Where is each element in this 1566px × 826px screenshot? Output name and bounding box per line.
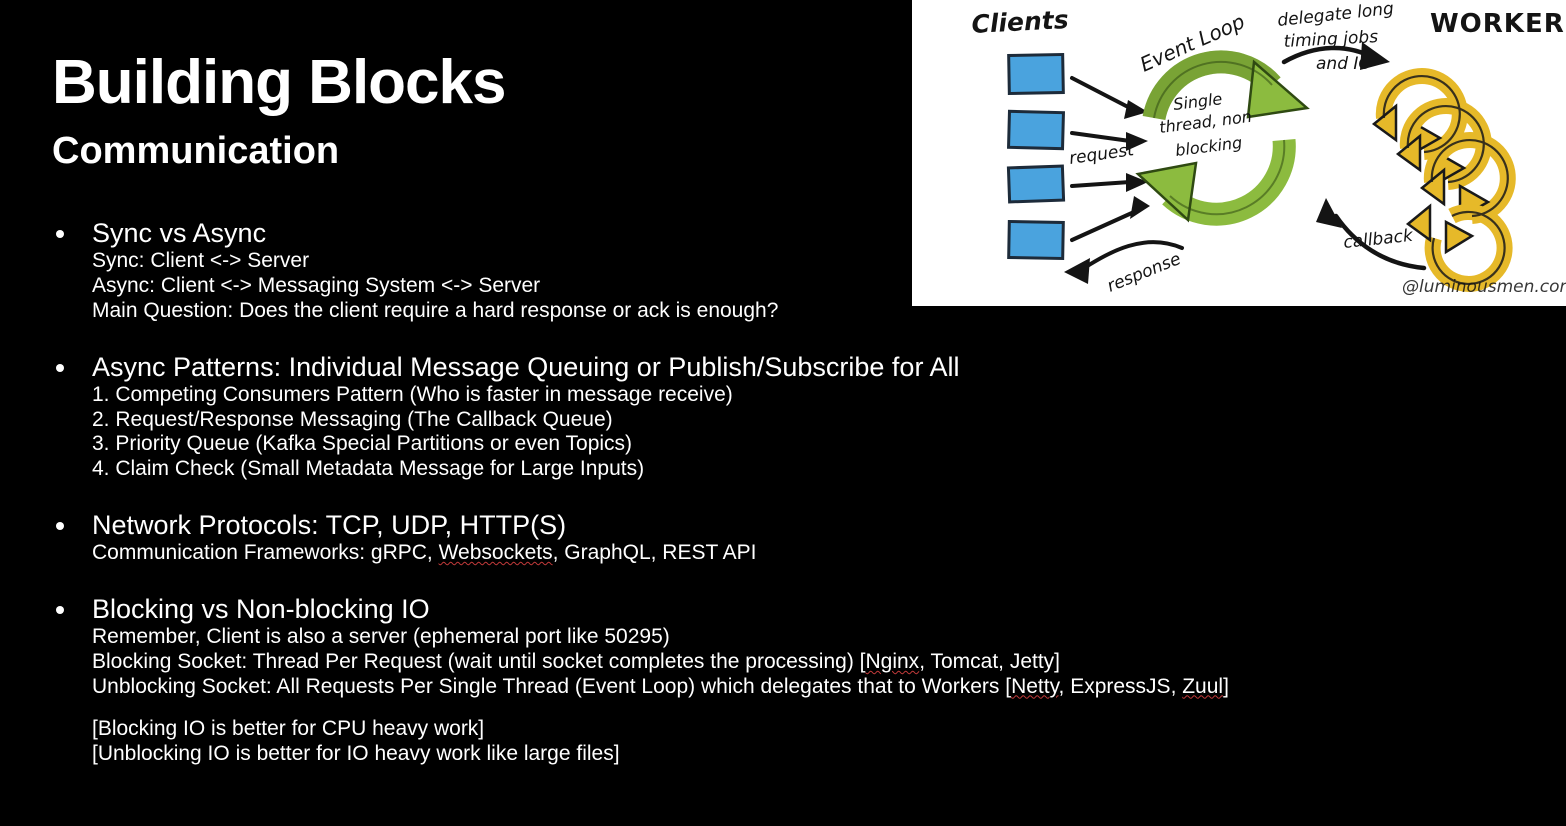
diagram-label-clients: Clients	[971, 5, 1069, 39]
numbered-item: 4. Claim Check (Small Metadata Message f…	[92, 457, 1522, 482]
bullet-dot-icon	[56, 364, 64, 372]
sub-line-spacer	[92, 699, 1522, 717]
sub-line: Blocking Socket: Thread Per Request (wai…	[92, 650, 1522, 675]
sub-line-text: Communication Frameworks: gRPC,	[92, 541, 439, 564]
bullet-heading: Async Patterns: Individual Message Queui…	[52, 352, 1522, 382]
misspelled-word: Nginx	[865, 650, 919, 673]
sub-line-text: , GraphQL, REST API	[553, 541, 757, 564]
bullet-group-async-patterns: Async Patterns: Individual Message Queui…	[52, 352, 1522, 482]
misspelled-word: Netty	[1011, 675, 1058, 698]
numbered-item: 3. Priority Queue (Kafka Special Partiti…	[92, 432, 1522, 457]
bullet-heading-text: Network Protocols: TCP, UDP, HTTP(S)	[92, 510, 566, 540]
bullet-sub-lines: Communication Frameworks: gRPC, Websocke…	[52, 541, 1522, 566]
sub-line-text: Unblocking Socket: All Requests Per Sing…	[92, 675, 1011, 698]
page-subtitle: Communication	[52, 132, 505, 170]
slide-canvas: Building Blocks Communication Sync vs As…	[0, 0, 1566, 826]
bullet-heading: Network Protocols: TCP, UDP, HTTP(S)	[52, 510, 1522, 540]
bullet-dot-icon	[56, 522, 64, 530]
sub-line-text: , ExpressJS,	[1059, 675, 1183, 698]
diagram-watermark: @luminousmen.com	[1402, 277, 1566, 297]
misspelled-word: Zuul	[1182, 675, 1223, 698]
numbered-item: 1. Competing Consumers Pattern (Who is f…	[92, 383, 1522, 408]
bullet-heading-text: Sync vs Async	[92, 218, 266, 248]
bullet-sub-lines: Remember, Client is also a server (ephem…	[52, 625, 1522, 767]
sub-line-text: , Tomcat, Jetty]	[919, 650, 1060, 673]
bullet-heading-text: Async Patterns: Individual Message Queui…	[92, 352, 959, 382]
title-block: Building Blocks Communication	[52, 52, 505, 170]
sub-line-text: ]	[1223, 675, 1229, 698]
bullet-sub-lines: 1. Competing Consumers Pattern (Who is f…	[52, 383, 1522, 482]
misspelled-word: Websockets	[439, 541, 553, 564]
bullet-heading-text: Blocking vs Non-blocking IO	[92, 594, 430, 624]
bullet-dot-icon	[56, 230, 64, 238]
sub-line: [Unblocking IO is better for IO heavy wo…	[92, 742, 1522, 767]
diagram-label-workers: WORKERS	[1430, 9, 1566, 39]
sub-line: Communication Frameworks: gRPC, Websocke…	[92, 541, 1522, 566]
event-loop-diagram-image: Clients request	[912, 0, 1566, 306]
sub-line: Remember, Client is also a server (ephem…	[92, 625, 1522, 650]
bullet-group-network-protocols: Network Protocols: TCP, UDP, HTTP(S) Com…	[52, 510, 1522, 566]
sub-line: [Blocking IO is better for CPU heavy wor…	[92, 717, 1522, 742]
bullet-dot-icon	[56, 606, 64, 614]
page-title: Building Blocks	[52, 52, 505, 114]
sub-line-text: Blocking Socket: Thread Per Request (wai…	[92, 650, 865, 673]
sub-line-text: [Unblocking IO is better for IO heavy wo…	[92, 742, 620, 765]
numbered-item: 2. Request/Response Messaging (The Callb…	[92, 408, 1522, 433]
sub-line: Unblocking Socket: All Requests Per Sing…	[92, 675, 1522, 700]
sub-line-text: [Blocking IO is better for CPU heavy wor…	[92, 717, 484, 740]
bullet-heading: Blocking vs Non-blocking IO	[52, 594, 1522, 624]
sub-line-text: Remember, Client is also a server (ephem…	[92, 625, 670, 648]
bullet-group-blocking-io: Blocking vs Non-blocking IO Remember, Cl…	[52, 594, 1522, 767]
